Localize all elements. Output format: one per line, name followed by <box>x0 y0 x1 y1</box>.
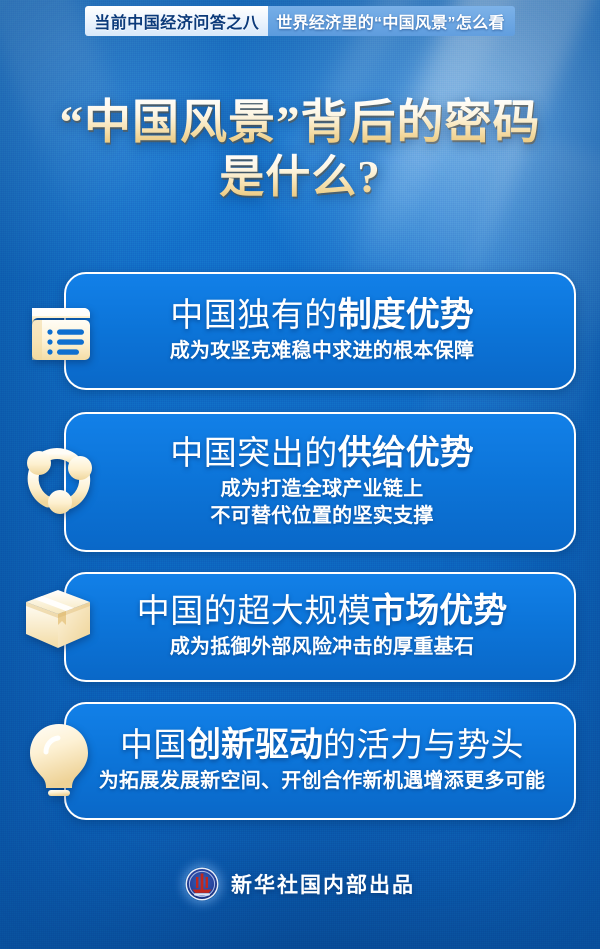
advantage-card-4[interactable]: 中国创新驱动的活力与势头 为拓展发展新空间、开创合作新机遇增添更多可能 <box>64 702 576 820</box>
card-2-headline: 中国突出的供给优势 <box>170 433 474 474</box>
footer: 新华社国内部出品 <box>0 867 600 901</box>
card-3-head-emphasis: 市场优势 <box>371 592 507 630</box>
card-1-head-prefix: 中国独有的 <box>170 298 338 334</box>
card-3-head-prefix: 中国的超大规模 <box>137 594 372 630</box>
card-3-headline: 中国的超大规模市场优势 <box>137 591 508 632</box>
series-tag: 当前中国经济问答之八 <box>85 6 268 36</box>
title-line-1: “中国风景”背后的密码 <box>0 96 600 150</box>
topic-tag: 世界经济里的“中国风景”怎么看 <box>268 6 515 36</box>
card-2-head-emphasis: 供给优势 <box>338 434 474 472</box>
card-2-sub-line-1: 成为打造全球产业链上 <box>210 476 433 503</box>
card-4-head-suffix: 的活力与势头 <box>323 728 524 764</box>
card-4-sub-line-1: 为拓展发展新空间、开创合作新机遇增添更多可能 <box>99 768 546 795</box>
card-3-sub-line-1: 成为抵御外部风险冲击的厚重基石 <box>170 634 475 661</box>
supply-chain-icon <box>18 438 98 516</box>
card-4-head-prefix: 中国 <box>120 728 187 764</box>
lightbulb-icon <box>22 718 96 804</box>
card-4-head-emphasis: 创新驱动 <box>187 726 323 764</box>
advantage-card-1[interactable]: 中国独有的制度优势 成为攻坚克难稳中求进的根本保障 <box>64 272 576 390</box>
card-3-text: 中国的超大规模市场优势 成为抵御外部风险冲击的厚重基石 <box>66 574 574 680</box>
card-1-head-emphasis: 制度优势 <box>338 296 474 334</box>
card-4-headline: 中国创新驱动的活力与势头 <box>120 725 524 766</box>
card-2-text: 中国突出的供给优势 成为打造全球产业链上 不可替代位置的坚实支撑 <box>66 414 574 550</box>
publisher-label: 新华社国内部出品 <box>231 869 415 899</box>
card-4-text: 中国创新驱动的活力与势头 为拓展发展新空间、开创合作新机遇增添更多可能 <box>66 704 574 818</box>
card-1-subtext: 成为攻坚克难稳中求进的根本保障 <box>170 338 475 365</box>
document-list-icon <box>24 294 98 366</box>
advantage-card-3[interactable]: 中国的超大规模市场优势 成为抵御外部风险冲击的厚重基石 <box>64 572 576 682</box>
card-4-subtext: 为拓展发展新空间、开创合作新机遇增添更多可能 <box>99 768 546 795</box>
card-2-subtext: 成为打造全球产业链上 不可替代位置的坚实支撑 <box>210 476 433 530</box>
card-1-text: 中国独有的制度优势 成为攻坚克难稳中求进的根本保障 <box>66 274 574 388</box>
package-box-icon <box>18 580 98 656</box>
advantage-card-2[interactable]: 中国突出的供给优势 成为打造全球产业链上 不可替代位置的坚实支撑 <box>64 412 576 552</box>
card-2-head-prefix: 中国突出的 <box>170 436 338 472</box>
card-1-headline: 中国独有的制度优势 <box>170 295 474 336</box>
header-tag-bar: 当前中国经济问答之八 世界经济里的“中国风景”怎么看 <box>0 6 600 36</box>
title-line-2: 是什么? <box>0 150 600 204</box>
card-2-sub-line-2: 不可替代位置的坚实支撑 <box>210 503 433 530</box>
card-1-sub-line-1: 成为攻坚克难稳中求进的根本保障 <box>170 338 475 365</box>
card-3-subtext: 成为抵御外部风险冲击的厚重基石 <box>170 634 475 661</box>
page-title: “中国风景”背后的密码 是什么? <box>0 96 600 204</box>
infographic-poster: 当前中国经济问答之八 世界经济里的“中国风景”怎么看 “中国风景”背后的密码 是… <box>0 0 600 949</box>
xinhua-logo-icon <box>185 867 219 901</box>
